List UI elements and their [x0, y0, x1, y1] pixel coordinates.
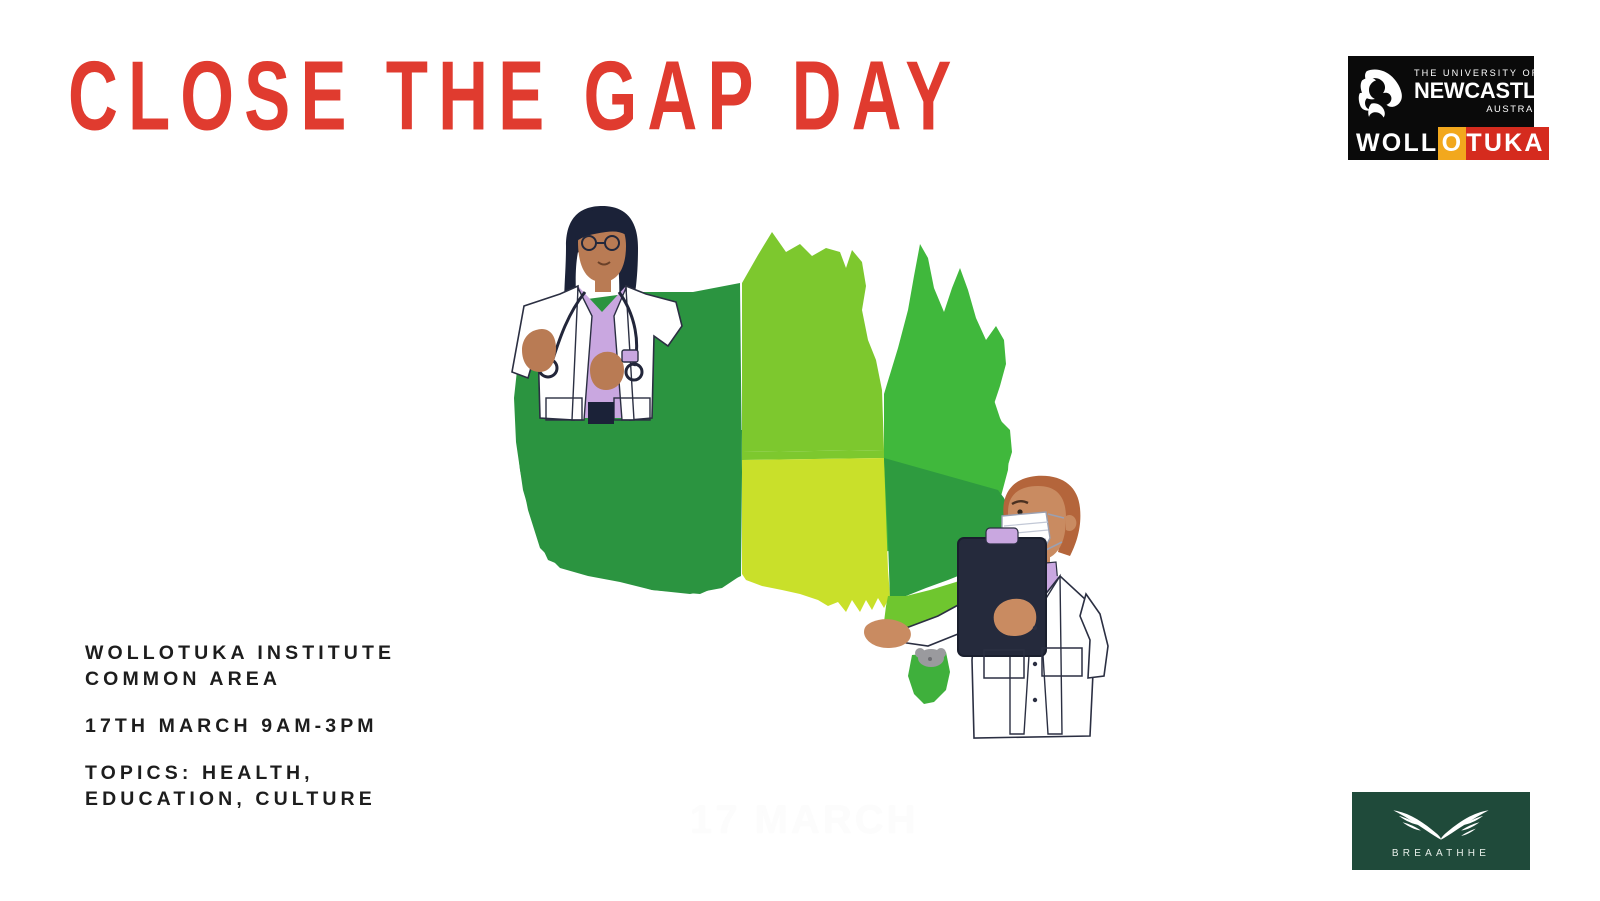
wollotuka-part-tuka: TUKA: [1466, 127, 1548, 160]
mask-strap: [1046, 514, 1064, 550]
doctor-female-figure: [512, 206, 682, 424]
hair-back: [564, 206, 638, 324]
breaathhe-wordmark: BREAATHHE: [1392, 848, 1490, 859]
stethoscope-bell: [539, 359, 557, 377]
coat-buttons: [1033, 626, 1037, 702]
event-datetime: 17TH MARCH 9AM-3PM: [85, 713, 395, 739]
lab-coat-right: [626, 286, 682, 420]
map-region-south-australia: [742, 458, 890, 612]
eye: [1017, 509, 1022, 514]
coat-lapel-left: [572, 288, 592, 420]
mouth: [598, 262, 610, 265]
datetime-group: 17TH MARCH 9AM-3PM: [85, 713, 395, 739]
hair: [1003, 476, 1080, 556]
topics-line-2: EDUCATION, CULTURE: [85, 786, 395, 812]
uon-wordmark: THE UNIVERSITY OF NEWCASTLE AUSTRALIA: [1414, 69, 1555, 113]
glasses-icon: [582, 236, 619, 250]
wollotuka-wordmark: WOLL O TUKA: [1348, 127, 1534, 160]
lab-coat: [972, 576, 1094, 738]
topics-group: TOPICS: HEALTH, EDUCATION, CULTURE: [85, 760, 395, 812]
ear: [1066, 515, 1076, 531]
coat-pocket-left: [984, 650, 1024, 678]
uon-line-australia: AUSTRALIA: [1414, 104, 1555, 113]
event-details: WOLLOTUKA INSTITUTE COMMON AREA 17TH MAR…: [85, 640, 395, 812]
trousers: [588, 402, 614, 424]
hand-right: [590, 352, 624, 390]
map-region-western-australia: [514, 283, 742, 594]
map-region-queensland: [884, 244, 1012, 550]
stethoscope-icon: [552, 292, 637, 366]
face-mask-pleats: [1004, 522, 1048, 542]
university-of-newcastle-logo: THE UNIVERSITY OF NEWCASTLE AUSTRALIA WO…: [1348, 56, 1534, 160]
arm-right: [1080, 594, 1108, 678]
inner-top: [1008, 576, 1062, 674]
wollotuka-part-woll: WOLL: [1348, 127, 1438, 160]
map-region-western-australia-body: [516, 430, 742, 594]
map-region-victoria: [884, 552, 1004, 642]
page-title: CLOSE THE GAP DAY: [68, 48, 961, 146]
clipboard-icon: [958, 538, 1046, 656]
map-region-tasmania: [908, 652, 950, 704]
venue-line-2: COMMON AREA: [85, 666, 395, 692]
australia-map: [514, 232, 1014, 704]
face-mask-icon: [1002, 512, 1050, 554]
inner-collar: [1012, 562, 1058, 588]
neck: [1022, 552, 1050, 574]
hand-left: [522, 329, 556, 372]
coat-pocket-right: [614, 398, 650, 420]
lab-coat: [512, 286, 578, 420]
coat-pocket-right: [1042, 648, 1082, 676]
topics-line-1: TOPICS: HEALTH,: [85, 760, 395, 786]
watermark-text: 17 MARCH: [690, 798, 918, 843]
map-region-northern-territory-lower: [742, 450, 884, 460]
coat-lapel-left: [1010, 580, 1032, 734]
uon-line-newcastle: NEWCASTLE: [1414, 80, 1550, 103]
face: [578, 218, 626, 282]
uon-logo-top: THE UNIVERSITY OF NEWCASTLE AUSTRALIA: [1348, 56, 1534, 127]
venue-line-1: WOLLOTUKA INSTITUTE: [85, 640, 395, 666]
neck: [595, 276, 611, 292]
doctor-male-figure: [864, 476, 1108, 738]
stethoscope-chestpiece: [626, 364, 642, 380]
crossed-feathers-icon: [1386, 803, 1496, 847]
wristwatch-icon: [622, 350, 638, 362]
map-region-new-south-wales: [884, 458, 1014, 600]
arm-left: [900, 592, 990, 646]
coat-pocket-left: [546, 398, 582, 420]
coat-lapel-right: [614, 288, 634, 420]
map-region-queensland-east: [884, 400, 1010, 552]
face: [1008, 486, 1066, 560]
hand-right: [994, 599, 1037, 636]
clipboard-clip: [986, 528, 1018, 544]
map-region-northern-territory: [742, 232, 884, 452]
hand-left: [864, 619, 911, 648]
breaathhe-logo: BREAATHHE: [1352, 792, 1530, 870]
koala-icon: [915, 648, 946, 667]
wollotuka-part-o: O: [1438, 127, 1466, 160]
hand-over-clipboard: [994, 599, 1037, 636]
venue-group: WOLLOTUKA INSTITUTE COMMON AREA: [85, 640, 395, 692]
horse-head-icon: [1354, 63, 1412, 121]
inner-top: [560, 286, 644, 418]
hair-front: [576, 208, 632, 242]
coat-lapel-right: [1040, 576, 1062, 734]
eyebrow: [1012, 501, 1028, 504]
